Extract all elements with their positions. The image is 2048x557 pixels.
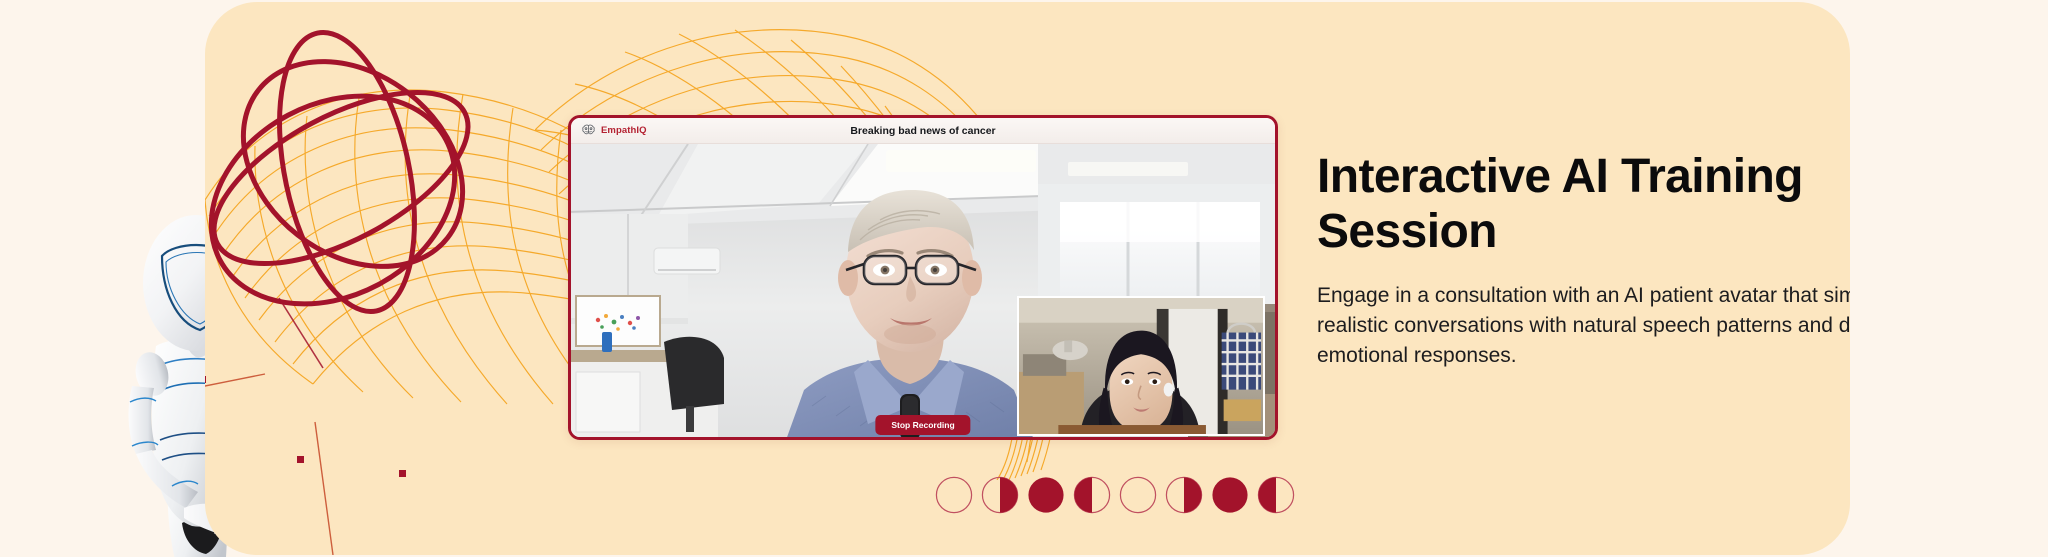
atom-orbit-decoration (205, 12, 505, 382)
phase-dot-empty[interactable] (1119, 476, 1157, 514)
hero-description: Engage in a consultation with an AI pati… (1317, 281, 1850, 370)
phase-dot-right-half[interactable] (1165, 476, 1203, 514)
hero-card: EmpathIQ Breaking bad news of cancer (205, 2, 1850, 555)
hero-copy: Interactive AI Training Session Engage i… (1317, 150, 1850, 371)
scenario-title: Breaking bad news of cancer (571, 125, 1275, 137)
phase-dot-full[interactable] (1027, 476, 1065, 514)
phase-dot-left-half[interactable] (1257, 476, 1295, 514)
hero-section: EmpathIQ Breaking bad news of cancer (0, 0, 2048, 557)
participant-webcam-pip[interactable] (1017, 296, 1265, 436)
phase-dot-right-half[interactable] (981, 476, 1019, 514)
page-title: Interactive AI Training Session (1317, 150, 1850, 259)
main-video-feed[interactable]: Stop Recording (571, 144, 1275, 440)
brain-icon (581, 123, 596, 138)
phase-dot-empty[interactable] (935, 476, 973, 514)
phase-dot-left-half[interactable] (1073, 476, 1111, 514)
stop-recording-button[interactable]: Stop Recording (875, 415, 970, 435)
app-titlebar: EmpathIQ Breaking bad news of cancer (571, 118, 1275, 144)
app-brand: EmpathIQ (581, 123, 647, 138)
app-brand-name: EmpathIQ (601, 125, 647, 136)
moon-phase-progress (935, 476, 1295, 514)
training-app-window[interactable]: EmpathIQ Breaking bad news of cancer (568, 115, 1278, 440)
phase-dot-full[interactable] (1211, 476, 1249, 514)
